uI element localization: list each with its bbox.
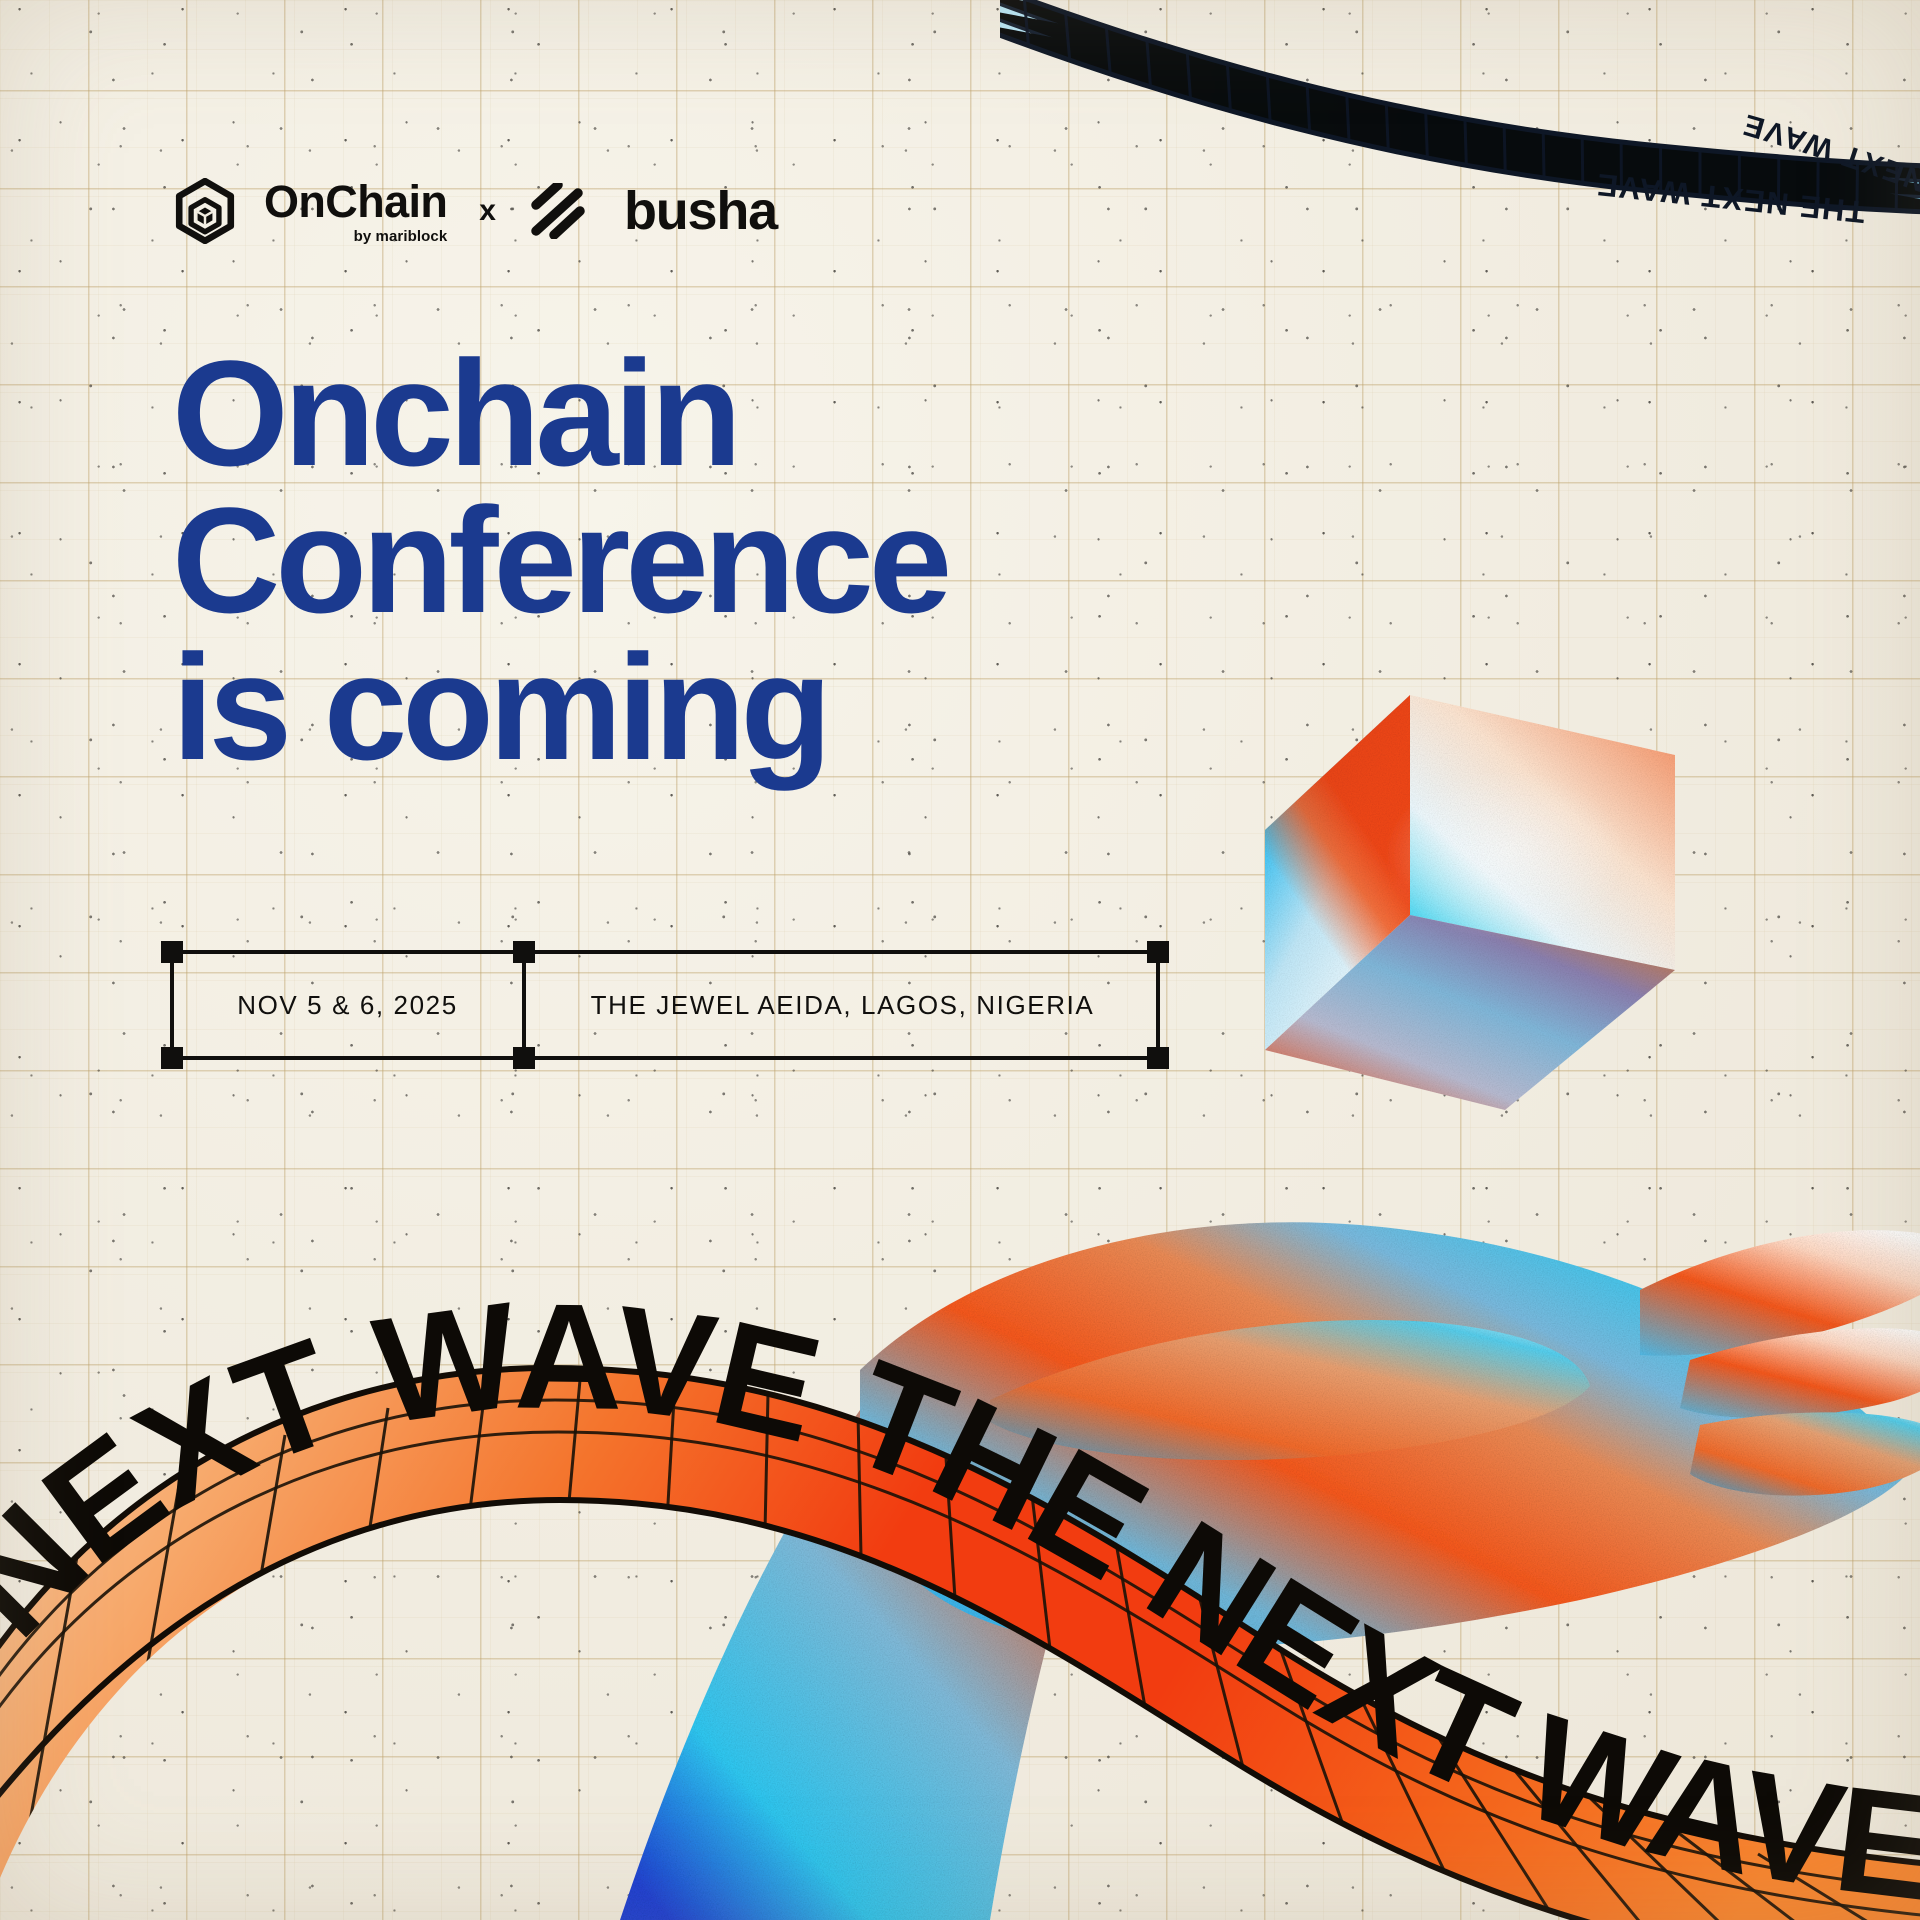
onchain-tagline: by mariblock — [264, 229, 447, 244]
bar-middle-rule — [522, 950, 526, 1060]
corner-marker-bottom-left — [161, 1047, 183, 1069]
busha-wordmark: busha — [624, 180, 777, 242]
headline-line-3: is coming — [172, 634, 947, 781]
event-date: NOV 5 & 6, 2025 — [170, 954, 525, 1056]
corner-marker-top-middle — [513, 941, 535, 963]
logo-separator: x — [479, 194, 496, 228]
bar-left-rule — [170, 950, 174, 1060]
busha-bars-icon — [528, 183, 586, 239]
corner-marker-top-right — [1147, 941, 1169, 963]
page-title: Onchain Conference is coming — [172, 340, 947, 781]
blue-wave-ribbon: THE NEXT WAVE THE NEXT WAVE — [1000, 0, 1920, 270]
orange-ribbon-text: THE NEXT WAVE THE NEXT WAVE — [0, 1290, 1920, 1920]
orange-wave-ribbon: THE NEXT WAVE THE NEXT WAVE — [0, 1290, 1920, 1920]
headline-line-1: Onchain — [172, 340, 947, 487]
corner-marker-bottom-middle — [513, 1047, 535, 1069]
headline-line-2: Conference — [172, 487, 947, 634]
onchain-name: OnChain — [264, 179, 447, 224]
corner-marker-top-left — [161, 941, 183, 963]
brand-logo-row: OnChain by mariblock x busha — [172, 178, 777, 244]
onchain-wordmark: OnChain by mariblock — [264, 179, 447, 244]
onchain-hexagon-cube-icon — [172, 178, 238, 244]
poster-canvas: THE NEXT WAVE THE NEXT WAVE OnChain by m… — [0, 0, 1920, 1920]
